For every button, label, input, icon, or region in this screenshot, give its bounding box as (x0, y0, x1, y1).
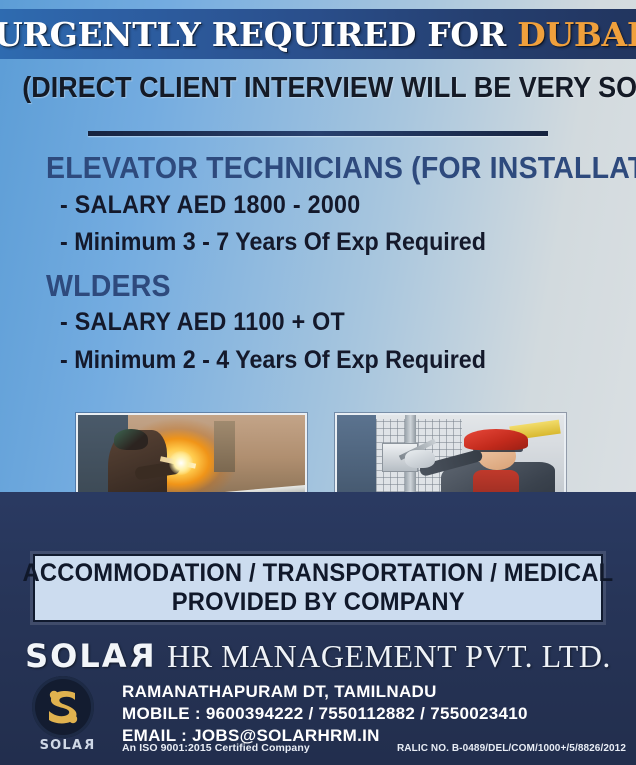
ralic-license-number: RALIC NO. B-0489/DEL/COM/1000+/5/8826/20… (397, 743, 626, 754)
header-title-main: URGENTLY REQUIRED FOR (0, 15, 517, 54)
company-logo: SOLAR (24, 676, 110, 762)
brand-solar-text: SOLA (25, 637, 128, 675)
benefits-line-2: PROVIDED BY COMPANY (171, 588, 464, 618)
footnote-row: An ISO 9001:2015 Certified Company RALIC… (122, 742, 626, 754)
logo-solar-text: SOLA (40, 738, 84, 753)
job-group-welders: WLDERS - SALARY AED 1100 + OT - Minimum … (46, 268, 606, 380)
photo-shape (169, 451, 193, 475)
brand-solar-reversed-r: R (128, 637, 155, 675)
company-mobile[interactable]: MOBILE : 9600394222 / 7550112882 / 75500… (122, 703, 622, 725)
page-title: URGENTLY REQUIRED FOR DUBAI (0, 15, 636, 54)
photo-shape (464, 429, 528, 450)
header-bar: URGENTLY REQUIRED FOR DUBAI (0, 9, 636, 59)
brand-name-solar: SOLAR (25, 637, 155, 675)
photo-shape (114, 429, 148, 450)
job-detail-experience: - Minimum 2 - 4 Years Of Exp Required (60, 342, 568, 380)
benefits-line-1: ACCOMMODATION / TRANSPORTATION / MEDICAL (23, 559, 614, 589)
logo-wordmark: SOLAR (24, 738, 110, 753)
subheading: (DIRECT CLIENT INTERVIEW WILL BE VERY SO… (22, 72, 613, 105)
job-group-elevator-technicians: ELEVATOR TECHNICIANS (FOR INSTALLATION) … (46, 150, 606, 262)
brand-name-rest: HR MANAGEMENT PVT. LTD. (167, 638, 611, 675)
job-title: WLDERS (46, 268, 561, 305)
job-listings: ELEVATOR TECHNICIANS (FOR INSTALLATION) … (46, 150, 606, 383)
job-detail-salary: - SALARY AED 1100 + OT (60, 304, 568, 342)
job-detail-salary: - SALARY AED 1800 - 2000 (60, 187, 568, 225)
job-detail-experience: - Minimum 3 - 7 Years Of Exp Required (60, 224, 568, 262)
company-address: RAMANATHAPURAM DT, TAMILNADU (122, 681, 622, 703)
divider-rule (88, 131, 548, 136)
job-title: ELEVATOR TECHNICIANS (FOR INSTALLATION) (46, 150, 561, 187)
logo-s-mark-icon (44, 687, 82, 727)
recruitment-poster: URGENTLY REQUIRED FOR DUBAI (DIRECT CLIE… (0, 0, 636, 765)
iso-certification-note: An ISO 9001:2015 Certified Company (122, 742, 310, 754)
photo-shape (405, 450, 435, 468)
benefits-box: ACCOMMODATION / TRANSPORTATION / MEDICAL… (33, 554, 603, 622)
company-wordmark: SOLAR HR MANAGEMENT PVT. LTD. (0, 637, 636, 675)
photo-shape (214, 421, 234, 472)
header-title-accent: DUBAI (517, 15, 636, 54)
contact-block: RAMANATHAPURAM DT, TAMILNADU MOBILE : 96… (122, 681, 622, 746)
logo-reversed-r: R (83, 738, 94, 753)
